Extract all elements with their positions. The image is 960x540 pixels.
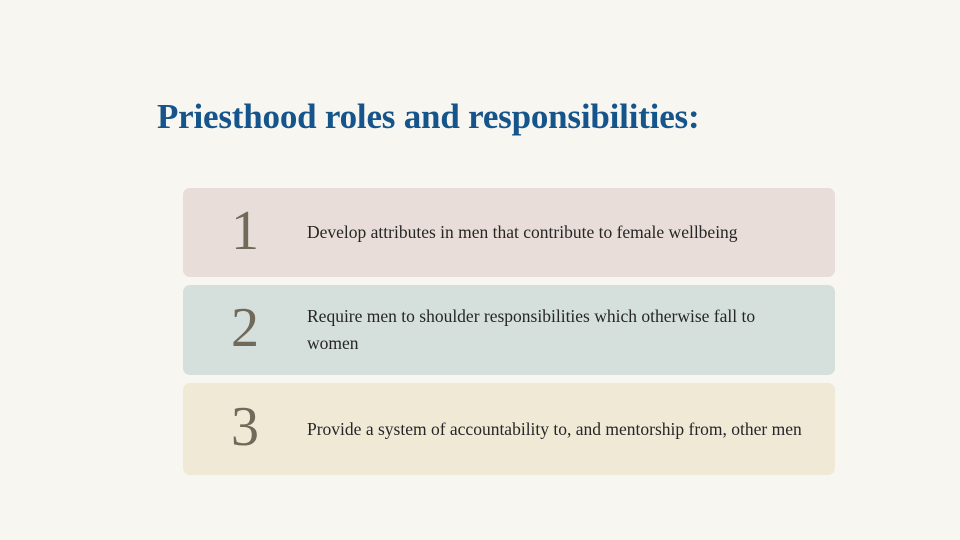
list-item-text-container: Provide a system of accountability to, a…: [307, 383, 835, 475]
list-item: 1 Develop attributes in men that contrib…: [183, 188, 835, 277]
list-item-text-container: Require men to shoulder responsibilities…: [307, 285, 835, 375]
list-item-text: Require men to shoulder responsibilities…: [307, 303, 809, 357]
list-item: 3 Provide a system of accountability to,…: [183, 383, 835, 475]
list-item-number: 3: [183, 383, 307, 475]
list-item-text: Develop attributes in men that contribut…: [307, 219, 738, 246]
list-item-text: Provide a system of accountability to, a…: [307, 416, 802, 443]
page-title: Priesthood roles and responsibilities:: [157, 96, 857, 138]
list-item-number: 2: [183, 285, 307, 375]
list-item: 2 Require men to shoulder responsibiliti…: [183, 285, 835, 375]
presentation-slide: Priesthood roles and responsibilities: 1…: [0, 0, 960, 540]
numbered-list: 1 Develop attributes in men that contrib…: [183, 188, 835, 475]
list-item-number: 1: [183, 188, 307, 277]
list-item-text-container: Develop attributes in men that contribut…: [307, 188, 835, 277]
